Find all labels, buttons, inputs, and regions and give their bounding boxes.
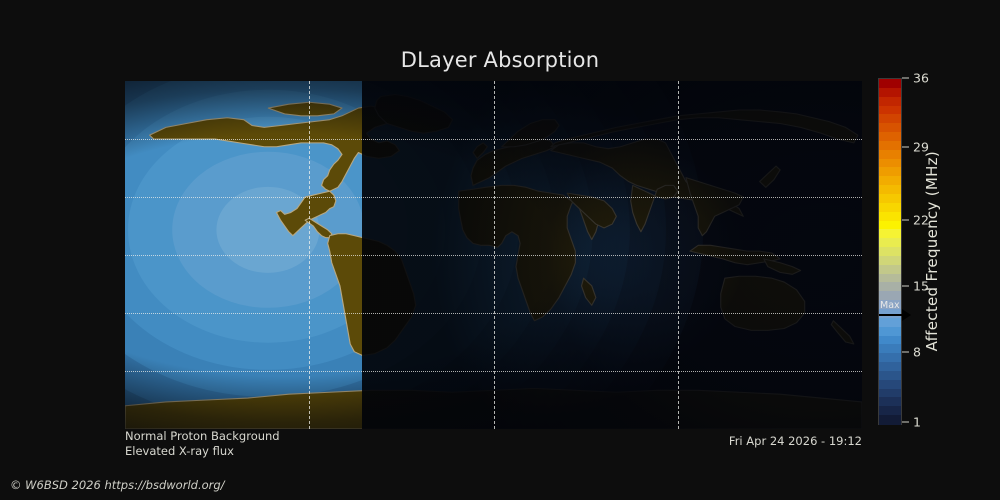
colorbar-tick-mark [902, 286, 909, 287]
land-canadian-arctic [268, 102, 342, 116]
land-new-zealand [831, 321, 854, 344]
colorbar-max-marker: Max [878, 301, 948, 325]
land-new-guinea [764, 259, 801, 274]
colorbar-tick-mark [902, 78, 909, 79]
status-caption: Normal Proton Background Elevated X-ray … [125, 429, 280, 459]
land-india [631, 185, 678, 231]
land-madagascar [582, 278, 596, 305]
colorbar[interactable] [878, 78, 902, 425]
colorbar-tick-mark [902, 421, 909, 422]
land-central-america [305, 218, 332, 237]
land-japan [760, 166, 780, 187]
land-greenland [375, 95, 453, 134]
land-northern-asia [551, 110, 858, 147]
colorbar-tick: 1 [902, 414, 921, 429]
landmass-layer [125, 81, 862, 429]
land-australia [721, 276, 805, 330]
land-se-asia [686, 178, 743, 236]
max-marker-label: Max [880, 300, 900, 311]
colorbar-tick: 8 [902, 345, 921, 360]
coastline-svg [125, 81, 862, 429]
page-title: DLayer Absorption [0, 48, 1000, 72]
colorbar-segment [879, 415, 901, 425]
colorbar-axis-label: Affected Frequency (MHz) [920, 78, 944, 425]
xray-status-text: Elevated X-ray flux [125, 444, 280, 459]
proton-status-text: Normal Proton Background [125, 429, 280, 444]
colorbar-tick-mark [902, 147, 909, 148]
app-root: DLayer Absorption [0, 0, 1000, 500]
colorbar-tick-mark [902, 220, 909, 221]
land-north-america [150, 106, 400, 236]
colorbar-tick-mark [902, 352, 909, 353]
timestamp-text: Fri Apr 24 2026 - 19:12 [600, 434, 862, 448]
max-marker-arrow-head [902, 309, 911, 321]
world-map-panel[interactable] [125, 81, 862, 429]
land-antarctica [125, 388, 862, 429]
copyright-text: © W6BSD 2026 https://bsdworld.org/ [10, 478, 225, 492]
land-south-america [328, 234, 416, 356]
